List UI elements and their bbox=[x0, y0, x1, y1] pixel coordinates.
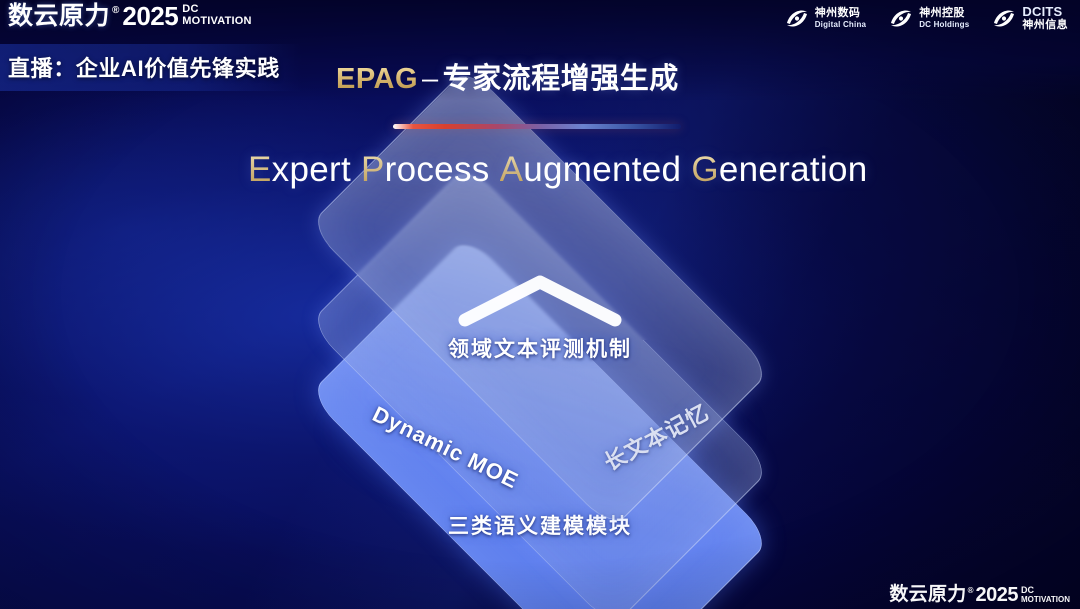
brand-motivation-label: MOTIVATION bbox=[182, 16, 251, 27]
slide-subtitle: Expert Process Augmented Generation bbox=[248, 150, 868, 190]
layer-bottom-label: 三类语义建模模块 bbox=[448, 510, 632, 540]
layer-bottom-surface bbox=[308, 235, 772, 609]
subtitle-rest-expert: xpert bbox=[272, 150, 351, 189]
partner-name-en: DC Holdings bbox=[919, 21, 969, 29]
headline-title-cn: 专家流程增强生成 bbox=[443, 63, 679, 95]
partner-logo-dcits: DCITS 神州信息 bbox=[991, 5, 1068, 31]
stack-glow bbox=[240, 300, 840, 560]
swirl-logo-icon bbox=[991, 5, 1017, 31]
watermark-year: 2025 bbox=[975, 585, 1018, 605]
slide-headline: EPAG–专家流程增强生成 bbox=[336, 55, 679, 97]
brand-year: 2025 bbox=[122, 3, 178, 29]
subtitle-rest-generation: eneration bbox=[719, 150, 868, 189]
layer-top-label: 领域文本评测机制 bbox=[448, 333, 632, 363]
gradient-divider bbox=[393, 124, 681, 129]
partner-name-en: Digital China bbox=[815, 21, 867, 29]
layer-middle-surface bbox=[308, 164, 772, 609]
subtitle-initial-e: E bbox=[248, 150, 272, 189]
partner-logo-digital-china: 神州数码 Digital China bbox=[784, 5, 867, 31]
layer-top-surface bbox=[308, 66, 772, 530]
subtitle-initial-p: P bbox=[361, 150, 385, 189]
brand-logo: 数云原力 ® 2025 DC MOTIVATION bbox=[8, 3, 252, 29]
subtitle-initial-g: G bbox=[691, 150, 719, 189]
swirl-logo-icon bbox=[888, 5, 914, 31]
brand-name-cn: 数云原力 bbox=[8, 3, 110, 29]
headline-acronym: EPAG bbox=[336, 63, 418, 95]
live-stream-banner: 直播：企业AI价值先锋实践 bbox=[0, 44, 302, 91]
partner-name-en: DCITS bbox=[1022, 5, 1068, 18]
partner-name-cn: 神州数码 bbox=[815, 8, 867, 19]
partner-name-cn: 神州信息 bbox=[1022, 20, 1068, 31]
brand-registered-mark: ® bbox=[112, 5, 119, 17]
watermark-registered-mark: ® bbox=[968, 586, 974, 596]
partner-name-cn: 神州控股 bbox=[919, 8, 969, 19]
subtitle-rest-process: rocess bbox=[385, 150, 490, 189]
partner-logo-group: 神州数码 Digital China 神州控股 DC Holdings bbox=[784, 5, 1068, 31]
watermark-motivation-label: MOTIVATION bbox=[1021, 596, 1070, 604]
subtitle-initial-a: A bbox=[500, 150, 524, 189]
diagram-layer-bottom[interactable] bbox=[325, 252, 755, 609]
footer-watermark-logo: 数云原力 ® 2025 DC MOTIVATION bbox=[889, 585, 1070, 605]
layer-middle-label-right: 长文本记忆 bbox=[597, 395, 714, 477]
layer-middle-label-left: Dynamic MOE bbox=[368, 401, 522, 494]
watermark-name-cn: 数云原力 bbox=[889, 585, 966, 605]
partner-logo-dc-holdings: 神州控股 DC Holdings bbox=[888, 5, 969, 31]
slide-canvas: 三类语义建模模块 Dynamic MOE 长文本记忆 领域文本评测机制 数云原力… bbox=[0, 0, 1080, 609]
diagram-layer-middle[interactable] bbox=[325, 181, 755, 609]
subtitle-rest-augmented: ugmented bbox=[523, 150, 681, 189]
brand-dc-label: DC bbox=[182, 4, 251, 15]
chevron-up-icon bbox=[455, 270, 625, 330]
watermark-dc-label: DC bbox=[1021, 586, 1070, 595]
swirl-logo-icon bbox=[784, 5, 810, 31]
diagram-layer-top[interactable] bbox=[325, 83, 755, 513]
headline-dash: – bbox=[422, 63, 439, 95]
